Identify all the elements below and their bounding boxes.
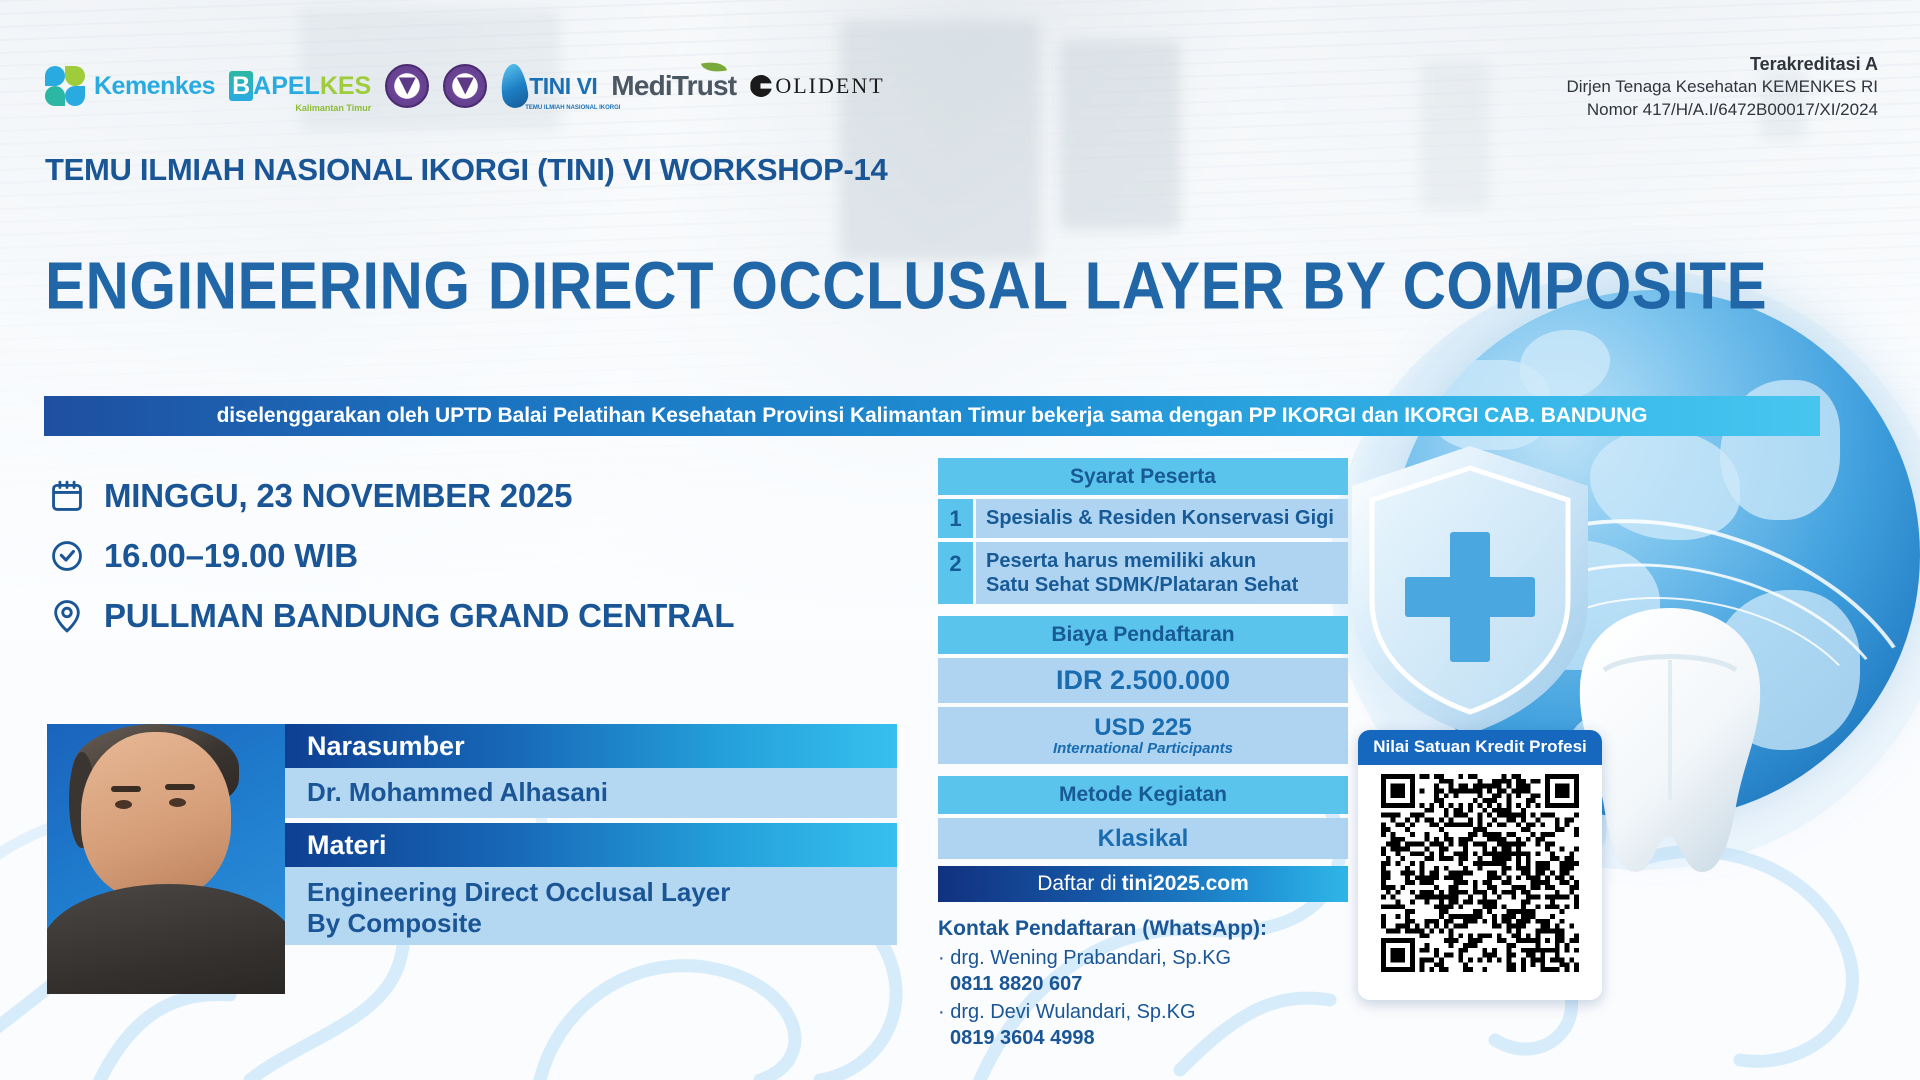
contact-title: Kontak Pendaftaran (WhatsApp): (938, 917, 1368, 941)
logo-tini: TINI VI TEMU ILMIAH NASIONAL IKORGI (501, 64, 597, 108)
meditrust-label: MediTrust (611, 70, 736, 101)
logo-colident: OLIDENT (750, 73, 884, 99)
registration-prefix: Daftar di (1037, 872, 1116, 896)
qr-card-title: Nilai Satuan Kredit Profesi (1358, 730, 1602, 765)
accreditation-line2: Dirjen Tenaga Kesehatan KEMENKES RI (1566, 76, 1878, 99)
detail-venue-text: PULLMAN BANDUNG GRAND CENTRAL (104, 597, 734, 635)
info-table: Syarat Peserta 1 Spesialis & Residen Kon… (938, 458, 1348, 859)
clock-icon (50, 539, 84, 573)
speaker-label-materi: Materi (285, 823, 897, 867)
method-header: Metode Kegiatan (938, 776, 1348, 813)
organizer-banner-text: diselenggarakan oleh UPTD Balai Pelatiha… (217, 404, 1648, 428)
registration-site-link[interactable]: tini2025.com (1122, 872, 1249, 896)
speaker-label-narasumber: Narasumber (285, 724, 897, 768)
contact-block: Kontak Pendaftaran (WhatsApp): · drg. We… (938, 917, 1368, 1053)
calendar-icon (50, 479, 84, 513)
partner-logos: Kemenkes B APEL KES Kalimantan Timur TIN… (45, 55, 885, 117)
ikorgi-seal-icon-2 (443, 64, 487, 108)
kemenkes-flower-icon (45, 66, 85, 106)
requirement-row-2: 2 Peserta harus memiliki akun Satu Sehat… (938, 542, 1348, 605)
registration-bar[interactable]: Daftar di tini2025.com (938, 866, 1348, 902)
tini-flame-icon (498, 62, 530, 109)
colident-c-icon (750, 75, 772, 97)
logo-kemenkes: Kemenkes (45, 66, 215, 106)
organizer-banner: diselenggarakan oleh UPTD Balai Pelatiha… (44, 396, 1820, 436)
detail-time-text: 16.00–19.00 WIB (104, 537, 358, 575)
speaker-topic: Engineering Direct Occlusal Layer By Com… (285, 867, 897, 945)
fee-usd: USD 225 (1094, 714, 1191, 741)
location-pin-icon (50, 599, 84, 633)
event-details: MINGGU, 23 NOVEMBER 2025 16.00–19.00 WIB… (50, 466, 734, 646)
colident-label: OLIDENT (775, 73, 884, 99)
fee-idr: IDR 2.500.000 (938, 658, 1348, 703)
bapelkes-b: B (229, 71, 253, 101)
method-value: Klasikal (938, 818, 1348, 860)
kemenkes-label: Kemenkes (94, 72, 215, 101)
bapelkes-subtitle: Kalimantan Timur (295, 103, 371, 113)
tini-label: TINI VI (529, 73, 597, 100)
contact-name-2: · drg. Devi Wulandari, Sp.KG (938, 999, 1368, 1025)
detail-row-time: 16.00–19.00 WIB (50, 526, 734, 586)
tini-subtitle: TEMU ILMIAH NASIONAL IKORGI (525, 105, 620, 111)
detail-row-date: MINGGU, 23 NOVEMBER 2025 (50, 466, 734, 526)
accreditation-line1: Terakreditasi A (1566, 52, 1878, 76)
page-title: ENGINEERING DIRECT OCCLUSAL LAYER BY COM… (45, 247, 1767, 324)
requirement-number-2: 2 (938, 542, 973, 605)
accreditation-block: Terakreditasi A Dirjen Tenaga Kesehatan … (1566, 52, 1878, 122)
bapelkes-kes: KES (320, 72, 371, 101)
requirement-row-1: 1 Spesialis & Residen Konservasi Gigi (938, 499, 1348, 537)
speaker-block: Narasumber Dr. Mohammed Alhasani Materi … (47, 724, 897, 994)
event-kicker: TEMU ILMIAH NASIONAL IKORGI (TINI) VI WO… (45, 152, 887, 188)
logo-bapelkes: B APEL KES Kalimantan Timur (229, 71, 371, 101)
requirement-text-2: Peserta harus memiliki akun Satu Sehat S… (976, 542, 1348, 605)
accreditation-line3: Nomor 417/H/A.I/6472B00017/XI/2024 (1566, 99, 1878, 122)
detail-date-text: MINGGU, 23 NOVEMBER 2025 (104, 477, 572, 515)
contact-phone-2[interactable]: 0819 3604 4998 (950, 1025, 1368, 1051)
fee-usd-subtitle: International Participants (938, 740, 1348, 757)
logo-meditrust: MediTrust (611, 70, 736, 102)
speaker-photo (47, 724, 285, 994)
requirements-header: Syarat Peserta (938, 458, 1348, 495)
contact-phone-1[interactable]: 0811 8820 607 (950, 971, 1368, 997)
bapelkes-apel: APEL (253, 72, 320, 101)
contact-name-1: · drg. Wening Prabandari, Sp.KG (938, 945, 1368, 971)
qr-card[interactable]: Nilai Satuan Kredit Profesi (1358, 730, 1602, 1000)
ikorgi-seal-icon-1 (385, 64, 429, 108)
poster-canvas: Kemenkes B APEL KES Kalimantan Timur TIN… (0, 0, 1920, 1080)
fee-usd-cell: USD 225 International Participants (938, 707, 1348, 765)
speaker-name: Dr. Mohammed Alhasani (285, 768, 897, 818)
requirement-text-1: Spesialis & Residen Konservasi Gigi (976, 499, 1348, 537)
requirement-number-1: 1 (938, 499, 973, 537)
detail-row-venue: PULLMAN BANDUNG GRAND CENTRAL (50, 586, 734, 646)
qr-code-icon[interactable] (1368, 774, 1592, 972)
fee-header: Biaya Pendaftaran (938, 616, 1348, 653)
